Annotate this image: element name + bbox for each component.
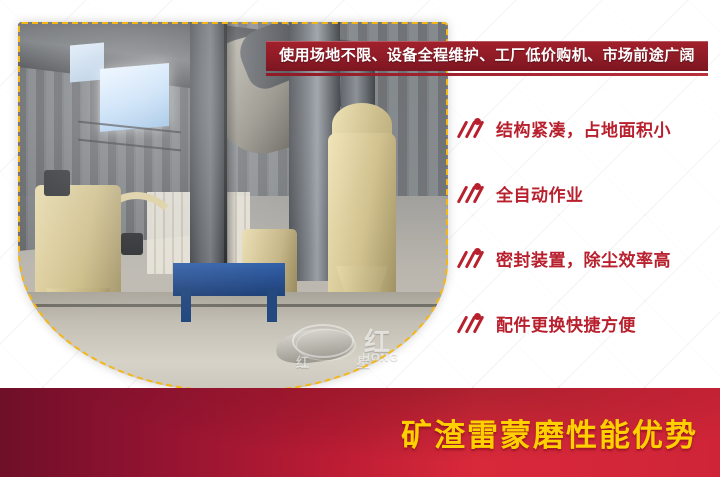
list-item: 全自动作业: [458, 161, 716, 226]
feature-label: 全自动作业: [496, 181, 584, 206]
list-item: 结构紧凑，占地面积小: [458, 96, 716, 161]
watermark-logo: 红 星 红 HONG: [292, 322, 404, 368]
list-item: 密封装置，除尘效率高: [458, 226, 716, 291]
list-item: 配件更换快捷方便: [458, 291, 716, 356]
feature-list: 结构紧凑，占地面积小 全自动作业 密封装置，除尘效率高 配件更换快捷方便: [458, 96, 716, 356]
feature-label: 密封装置，除尘效率高: [496, 246, 671, 271]
double-chevron-icon: [458, 117, 488, 141]
double-chevron-icon: [458, 182, 488, 206]
headline-banner-text: 使用场地不限、设备全程维护、工厂低价购机、市场前途广阔: [266, 41, 708, 71]
headline-banner: 使用场地不限、设备全程维护、工厂低价购机、市场前途广阔: [266, 41, 708, 71]
watermark-brand-en: HONG: [362, 352, 399, 364]
feature-label: 结构紧凑，占地面积小: [496, 116, 671, 141]
headline-banner-underline: [266, 73, 708, 76]
double-chevron-icon: [458, 312, 488, 336]
footer-bar: 矿渣雷蒙磨性能优势: [0, 388, 720, 477]
footer-title: 矿渣雷蒙磨性能优势: [0, 388, 720, 477]
double-chevron-icon: [458, 247, 488, 271]
promo-banner-graphic: 红 星 红 HONG 使用场地不限、设备全程维护、工厂低价购机、市场前途广阔 结…: [0, 0, 720, 477]
feature-label: 配件更换快捷方便: [496, 311, 636, 336]
